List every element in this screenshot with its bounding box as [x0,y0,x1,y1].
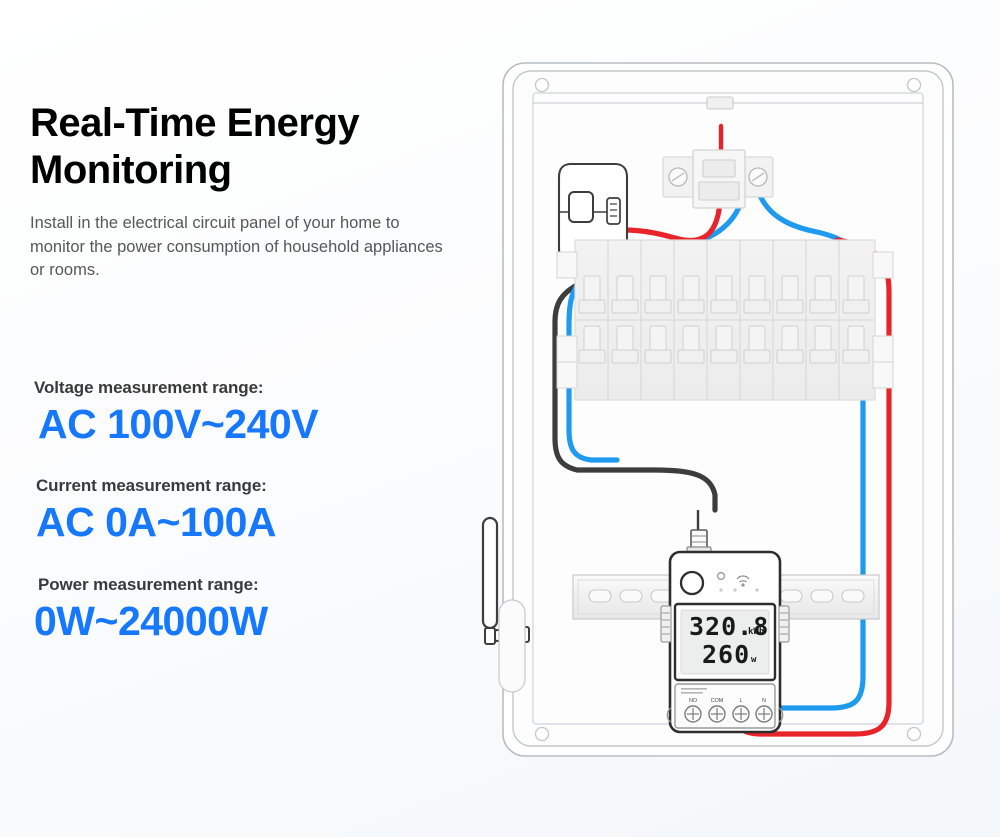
specification-list: Voltage measurement range: AC 100V~240V … [30,378,470,643]
spec-item-power: Power measurement range: 0W~24000W [30,575,470,643]
reset-button [681,572,703,594]
terminal-label-com: COM [711,698,724,704]
spec-value-current: AC 0A~100A [30,500,470,544]
spec-item-current: Current measurement range: AC 0A~100A [30,476,470,544]
spec-label-current: Current measurement range: [30,476,470,496]
text-column: Real-Time Energy Monitoring Install in t… [30,100,470,283]
din-slot [620,590,642,602]
description-text: Install in the electrical circuit panel … [30,212,450,282]
circuit-breaker-array [557,240,893,400]
breaker-toggle-row-bottom [579,326,869,363]
panel-screw-top-right [908,79,921,92]
terminal-label-n: N [762,698,766,704]
lcd-power-value: 260 [702,640,750,669]
lcd-power-unit: w [751,655,756,665]
electrical-panel-diagram: NO COM L N 320.8 kWh 260 w [465,40,985,800]
din-slot [811,590,833,602]
din-slot [780,590,802,602]
panel-screw-bottom-left [536,728,549,741]
din-slot [589,590,611,602]
spec-label-voltage: Voltage measurement range: [30,378,470,398]
spec-item-voltage: Voltage measurement range: AC 100V~240V [30,378,470,446]
spec-value-power: 0W~24000W [30,599,470,643]
breaker-toggle-row-top [579,276,869,313]
terminal-label-no: NO [689,698,697,704]
spec-label-power: Power measurement range: [30,575,470,595]
page-title: Real-Time Energy Monitoring [30,100,470,194]
spec-value-voltage: AC 100V~240V [30,402,470,446]
din-slot [842,590,864,602]
infographic-root: Real-Time Energy Monitoring Install in t… [0,0,1000,837]
terminal-label-l: L [740,698,743,704]
panel-screw-bottom-right [908,728,921,741]
lcd-energy-unit: kWh [748,627,764,637]
panel-screw-top-left [536,79,549,92]
